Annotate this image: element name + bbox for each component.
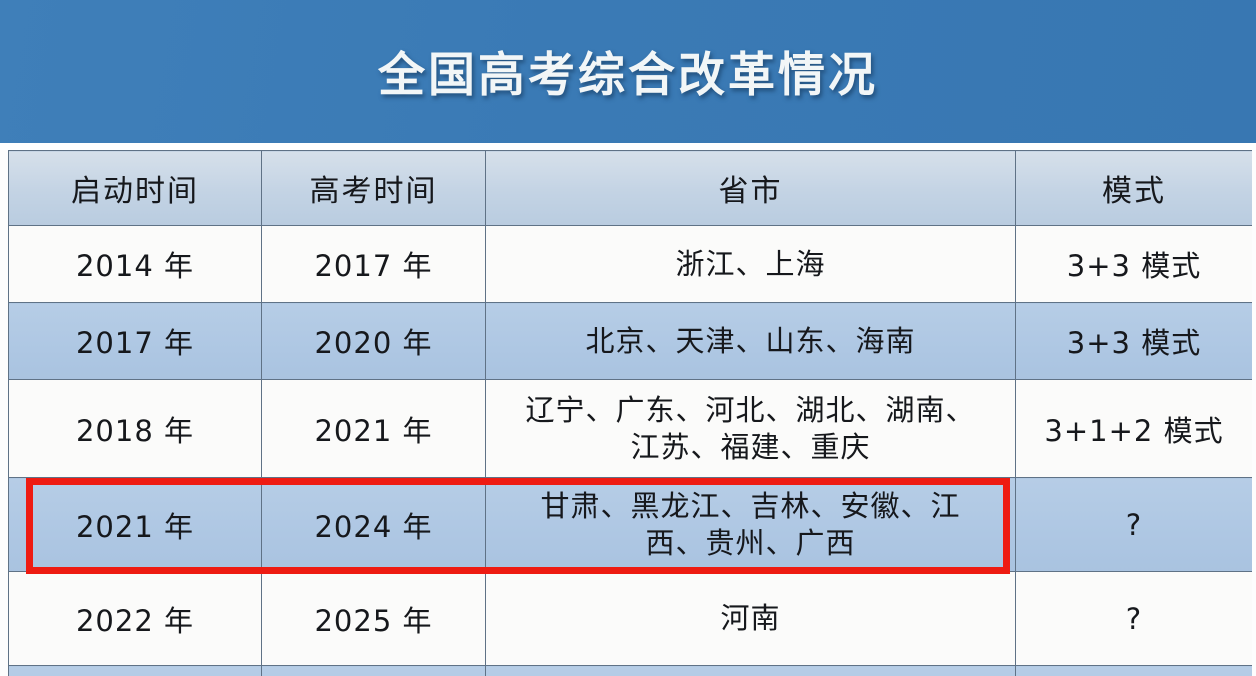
- provinces-line-1: 河南: [490, 600, 1011, 636]
- cell-exam-time: [262, 666, 486, 676]
- cell-provinces: [486, 666, 1016, 676]
- table-row: 2017 年 2020 年 北京、天津、山东、海南 3+3 模式: [9, 303, 1253, 380]
- reform-table: 启动时间 高考时间 省市 模式 2014 年 2017 年 浙江、上海 3+3 …: [8, 150, 1252, 676]
- table-row: 2022 年 2025 年 河南 ?: [9, 572, 1253, 666]
- cell-exam-time: 2020 年: [262, 303, 486, 380]
- provinces-line-1: 北京、天津、山东、海南: [490, 323, 1011, 359]
- header-start-time: 启动时间: [9, 151, 262, 226]
- provinces-line-1: 浙江、上海: [490, 246, 1011, 282]
- cell-mode: 3+1+2 模式: [1016, 380, 1253, 478]
- cell-mode: 3+3 模式: [1016, 303, 1253, 380]
- cell-start-time: 2021 年: [9, 478, 262, 572]
- provinces-line-2: 西、贵州、广西: [490, 525, 1011, 561]
- table-row-highlighted: 2021 年 2024 年 甘肃、黑龙江、吉林、安徽、江 西、贵州、广西 ?: [9, 478, 1253, 572]
- table-header-row: 启动时间 高考时间 省市 模式: [9, 151, 1253, 226]
- cell-provinces: 北京、天津、山东、海南: [486, 303, 1016, 380]
- header-mode: 模式: [1016, 151, 1253, 226]
- cell-mode-unknown: ?: [1016, 572, 1253, 666]
- cell-start-time: 2017 年: [9, 303, 262, 380]
- provinces-line-1: 辽宁、广东、河北、湖北、湖南、: [490, 392, 1011, 428]
- title-banner: 全国高考综合改革情况: [0, 0, 1256, 143]
- provinces-line-1: 甘肃、黑龙江、吉林、安徽、江: [490, 488, 1011, 524]
- cell-mode: [1016, 666, 1253, 676]
- cell-start-time: [9, 666, 262, 676]
- table-row: 2014 年 2017 年 浙江、上海 3+3 模式: [9, 226, 1253, 303]
- banner-divider: [0, 143, 1256, 150]
- header-provinces: 省市: [486, 151, 1016, 226]
- cell-start-time: 2014 年: [9, 226, 262, 303]
- cell-start-time: 2022 年: [9, 572, 262, 666]
- cell-provinces: 甘肃、黑龙江、吉林、安徽、江 西、贵州、广西: [486, 478, 1016, 572]
- cell-mode-unknown: ?: [1016, 478, 1253, 572]
- table-row: 2018 年 2021 年 辽宁、广东、河北、湖北、湖南、 江苏、福建、重庆 3…: [9, 380, 1253, 478]
- cell-exam-time: 2017 年: [262, 226, 486, 303]
- cell-exam-time: 2025 年: [262, 572, 486, 666]
- page-title: 全国高考综合改革情况: [378, 52, 878, 99]
- provinces-line-2: 江苏、福建、重庆: [490, 429, 1011, 465]
- cell-exam-time: 2021 年: [262, 380, 486, 478]
- cell-mode: 3+3 模式: [1016, 226, 1253, 303]
- header-exam-time: 高考时间: [262, 151, 486, 226]
- slide-screen: 全国高考综合改革情况 启动时间 高考时间 省市 模式 2014 年 2017 年: [0, 0, 1256, 676]
- reform-table-container: 启动时间 高考时间 省市 模式 2014 年 2017 年 浙江、上海 3+3 …: [8, 150, 1252, 676]
- cell-provinces: 河南: [486, 572, 1016, 666]
- table-row-partial: [9, 666, 1253, 676]
- cell-start-time: 2018 年: [9, 380, 262, 478]
- cell-exam-time: 2024 年: [262, 478, 486, 572]
- cell-provinces: 浙江、上海: [486, 226, 1016, 303]
- cell-provinces: 辽宁、广东、河北、湖北、湖南、 江苏、福建、重庆: [486, 380, 1016, 478]
